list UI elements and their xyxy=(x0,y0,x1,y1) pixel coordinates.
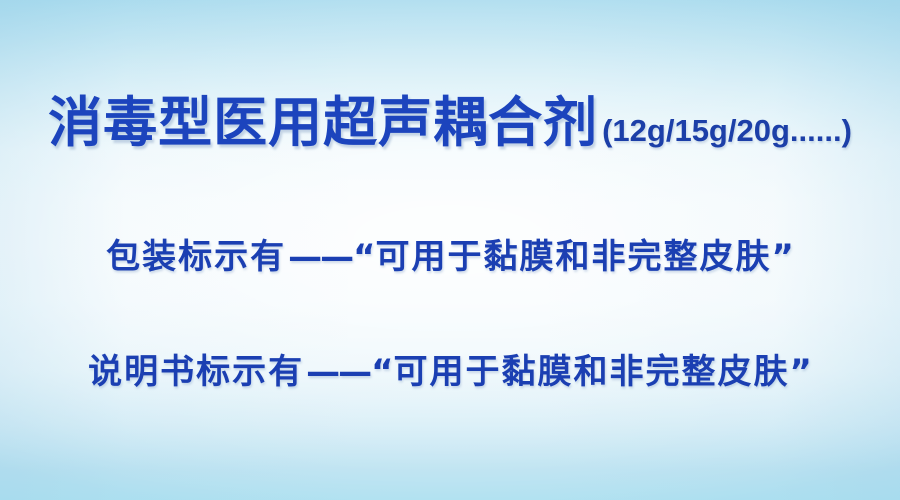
slide-canvas: 消毒型医用超声耦合剂(12g/15g/20g......) 包装标示有——“可用… xyxy=(0,0,900,500)
statement-label-packaging: 包装标示有 xyxy=(106,237,286,277)
em-dash-separator: —— xyxy=(288,237,352,277)
open-quote-mark: “ xyxy=(353,237,375,277)
statement-line-packaging: 包装标示有——“可用于黏膜和非完整皮肤” xyxy=(0,240,900,274)
statement-label-instructions: 说明书标示有 xyxy=(88,352,304,392)
statement-quoted-text-instructions: 可用于黏膜和非完整皮肤 xyxy=(394,352,790,392)
close-quote-mark: ” xyxy=(790,352,812,392)
em-dash-separator: —— xyxy=(306,352,370,392)
slide-content: 消毒型医用超声耦合剂(12g/15g/20g......) 包装标示有——“可用… xyxy=(0,0,900,500)
open-quote-mark: “ xyxy=(371,352,393,392)
statement-quoted-text-packaging: 可用于黏膜和非完整皮肤 xyxy=(376,237,772,277)
product-spec-label: (12g/15g/20g......) xyxy=(602,113,852,148)
slide-title: 消毒型医用超声耦合剂(12g/15g/20g......) xyxy=(0,96,900,150)
statement-line-instructions: 说明书标示有——“可用于黏膜和非完整皮肤” xyxy=(0,355,900,389)
close-quote-mark: ” xyxy=(772,237,794,277)
product-name-title: 消毒型医用超声耦合剂 xyxy=(48,91,598,154)
